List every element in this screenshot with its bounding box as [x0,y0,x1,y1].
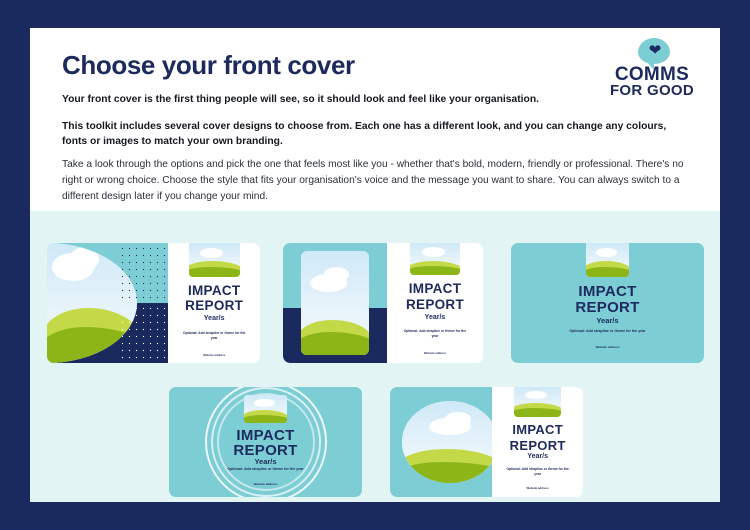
cover2-impact: IMPACT [387,281,483,296]
cover4-thumb-image [244,395,286,424]
lead-paragraph-2: This toolkit includes several cover desi… [62,120,682,149]
cover3-impact: IMPACT [511,283,704,300]
cloud-icon [254,399,274,407]
cover1-dot-pattern [117,303,168,363]
cover1-left-panel [47,243,168,363]
cover5-left-panel [390,387,492,497]
cover-option-4-rings[interactable]: IMPACT REPORT Year/s Optional: Add strap… [169,387,362,497]
cover-option-5-circle[interactable]: IMPACT REPORT Year/s Optional: Add strap… [390,387,583,497]
heart-icon: ❤ [648,44,662,57]
cover1-impact: IMPACT [168,283,260,298]
cover1-thumb-image [189,243,240,277]
cover1-right-page: IMPACT REPORT Year/s Optional: Add strap… [168,243,260,363]
slide-canvas: Choose your front cover Your front cover… [0,0,750,530]
cover-option-3-solid-teal[interactable]: IMPACT REPORT Year/s Optional: Add strap… [511,243,704,363]
cloud-icon [70,247,99,271]
cover-gallery: IMPACT REPORT Year/s Optional: Add strap… [30,211,720,502]
cover2-landscape-image [301,251,370,354]
body-paragraph: Take a look through the options and pick… [62,157,684,205]
cover2-report: REPORT [387,297,483,312]
hill-dark [402,462,492,483]
cloud-icon [596,248,616,257]
cover4-website: Website address [169,482,362,486]
cover2-right-page: IMPACT REPORT Year/s Optional: Add strap… [387,243,483,363]
cover-option-2-window[interactable]: IMPACT REPORT Year/s Optional: Add strap… [283,243,483,363]
cover5-website: Website address [492,486,583,490]
hill-dark [586,267,628,277]
cover2-left-panel [283,243,387,363]
cover1-report: REPORT [168,298,260,313]
cover2-website: Website address [387,351,483,355]
slide-sheet: Choose your front cover Your front cover… [30,28,720,502]
cover3-website: Website address [511,345,704,349]
cover1-strapline: Optional: Add strapline or theme for the… [181,331,247,341]
cover5-circle-image [402,401,492,482]
cover1-dot-pattern [117,243,168,303]
hill-dark [244,415,286,424]
hill-dark [410,266,460,276]
header-section: Choose your front cover Your front cover… [30,28,720,211]
cover2-years: Year/s [387,314,483,321]
cover5-right-page: IMPACT REPORT Year/s Optional: Add strap… [492,387,583,497]
cloud-icon [200,248,224,258]
lead-paragraph-1: Your front cover is the first thing peop… [62,94,662,105]
cover1-years: Year/s [168,315,260,322]
cloud-icon [422,247,445,257]
comms-for-good-logo: ❤ COMMS FOR GOOD [604,38,700,100]
logo-word-forgood: FOR GOOD [604,82,700,99]
cover5-years: Year/s [492,453,583,460]
cover5-strapline: Optional: Add strapline or theme for the… [505,467,570,477]
cover3-report: REPORT [511,299,704,316]
cover4-years: Year/s [169,457,362,466]
cover1-website: Website address [168,353,260,357]
cloud-icon [445,412,472,427]
cover3-thumb-image [586,243,628,277]
page-title: Choose your front cover [62,50,355,81]
hill-dark [514,408,561,417]
cover5-report: REPORT [492,438,583,453]
cloud-icon [324,267,349,282]
cover4-strapline: Optional: Add strapline or theme for the… [192,467,339,471]
cover-option-1-arc-dots[interactable]: IMPACT REPORT Year/s Optional: Add strap… [47,243,260,363]
cover2-strapline: Optional: Add strapline or theme for the… [400,329,469,339]
cover3-strapline: Optional: Add strapline or theme for the… [534,329,681,333]
hill-dark [301,332,370,355]
cover5-thumb-image [514,387,561,417]
cover2-thumb-image [410,243,460,275]
hill-dark [189,267,240,277]
cover5-impact: IMPACT [492,422,583,437]
cover3-years: Year/s [511,316,704,325]
